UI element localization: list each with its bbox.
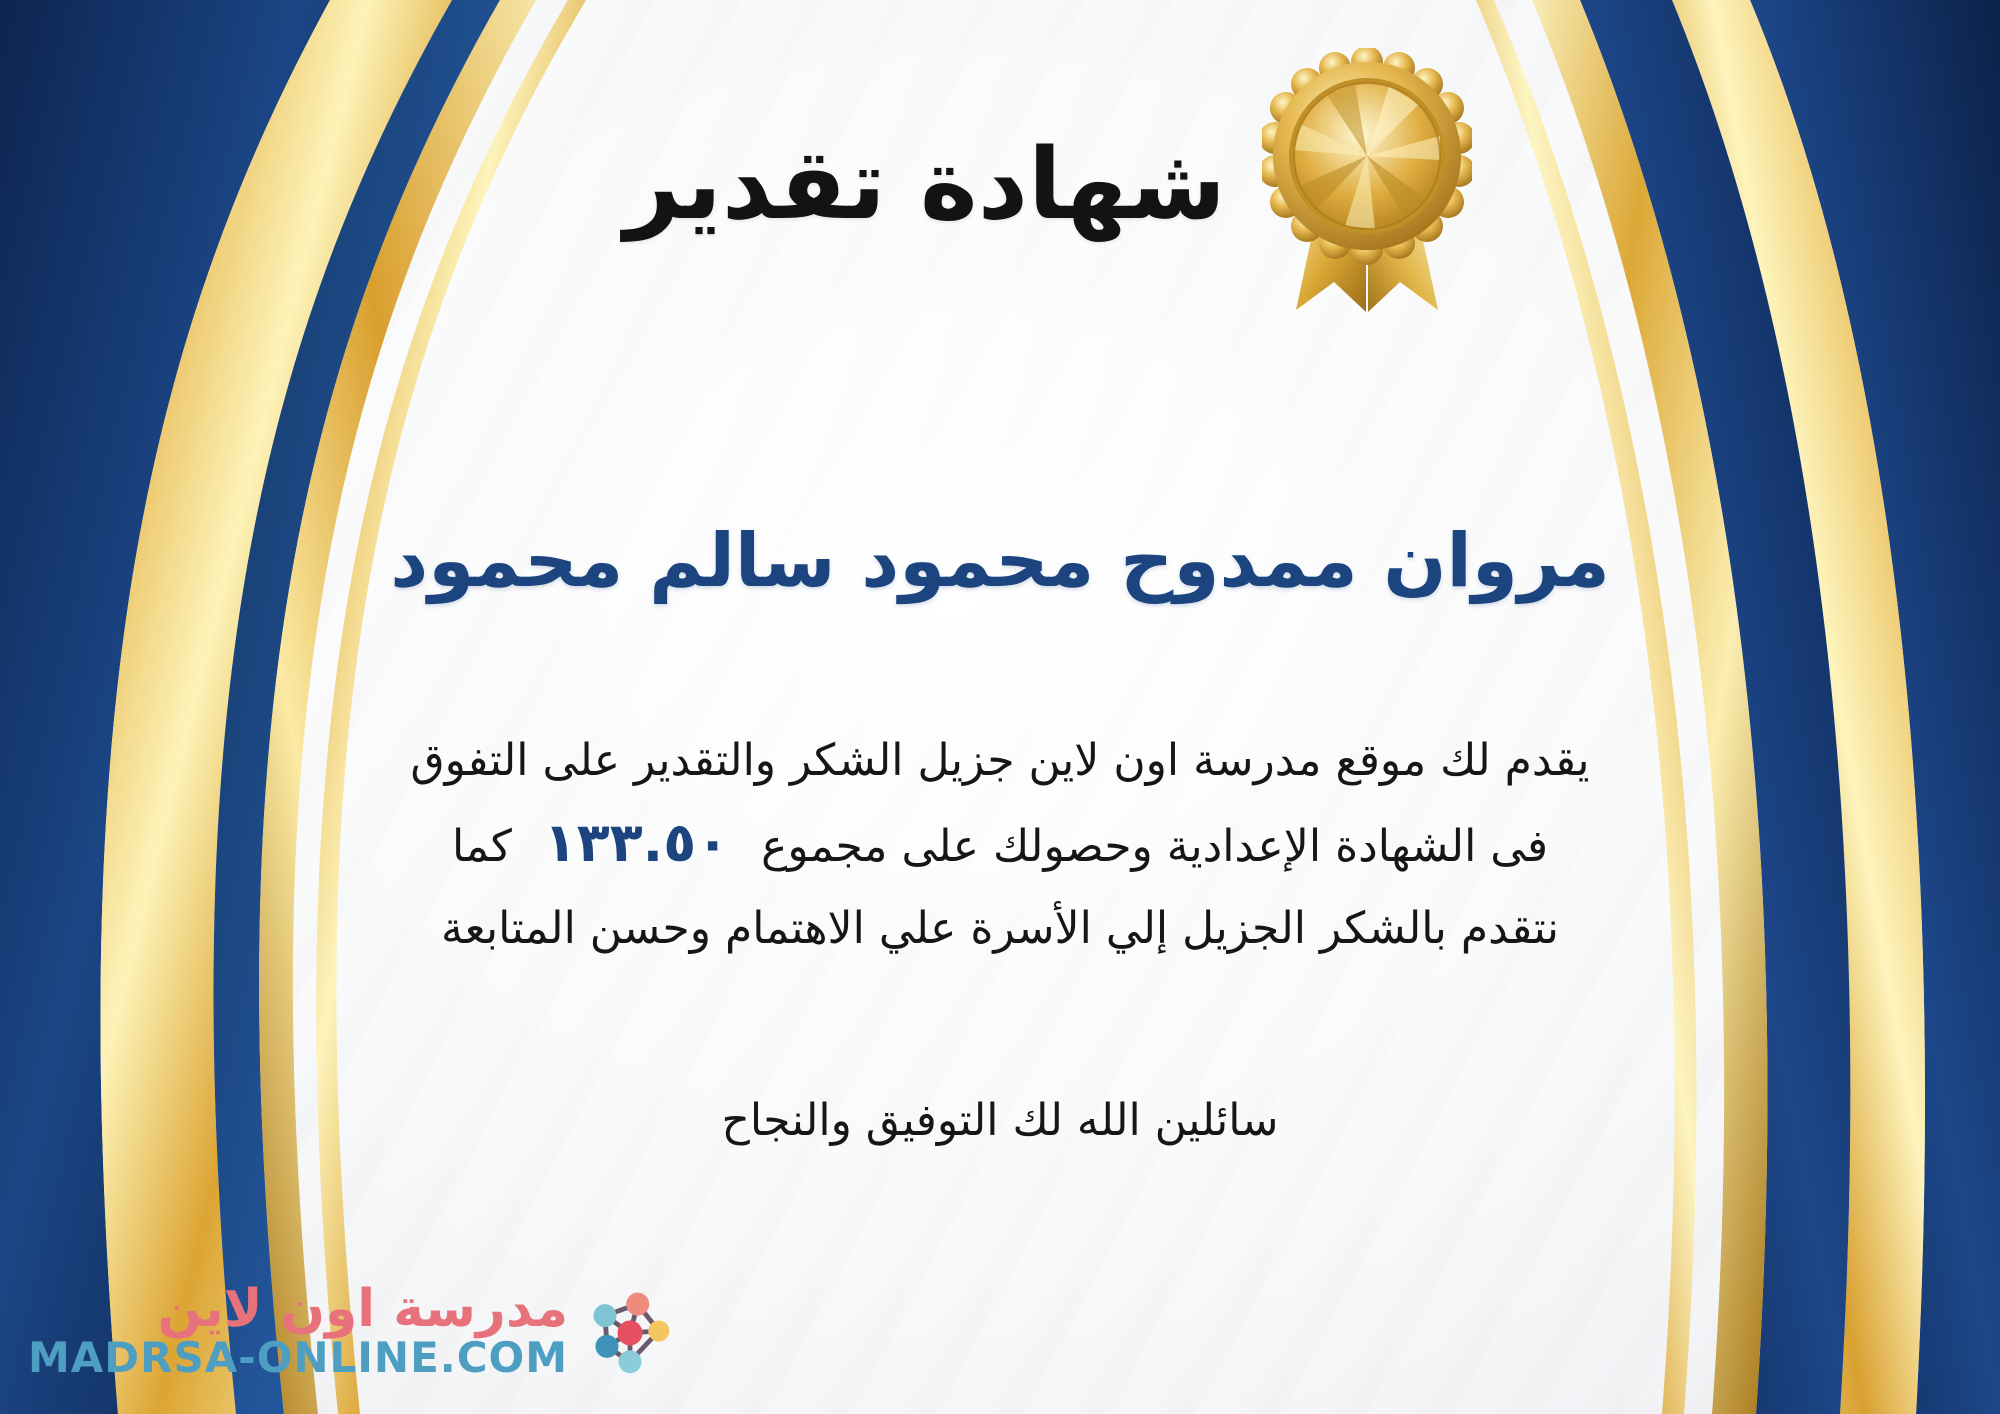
body-line-1: يقدم لك موقع مدرسة اون لاين جزيل الشكر و… <box>300 720 1700 802</box>
network-nodes-icon <box>582 1283 678 1379</box>
brand-arabic-name: مدرسة اون لاين <box>157 1283 568 1336</box>
certificate-content: شهادة تقدير مروان ممدوح محمود سالم محمود… <box>0 0 2000 1414</box>
body-line-2: فى الشهادة الإعدادية وحصولك على مجموع ١٣… <box>300 802 1700 888</box>
body-line-2-prefix: فى الشهادة الإعدادية وحصولك على مجموع <box>761 821 1548 872</box>
closing-line: سائلين الله لك التوفيق والنجاح <box>300 1095 1700 1146</box>
certificate-canvas: شهادة تقدير مروان ممدوح محمود سالم محمود… <box>0 0 2000 1414</box>
brand-text-block: مدرسة اون لاين MADRSA-ONLINE.COM <box>28 1283 568 1380</box>
brand-logo[interactable]: مدرسة اون لاين MADRSA-ONLINE.COM <box>28 1283 678 1380</box>
page-title: شهادة تقدير <box>0 128 2000 242</box>
body-line-3: نتقدم بالشكر الجزيل إلي الأسرة علي الاهت… <box>300 888 1700 970</box>
body-paragraph: يقدم لك موقع مدرسة اون لاين جزيل الشكر و… <box>300 720 1700 970</box>
body-line-2-suffix: كما <box>452 821 512 872</box>
recipient-name: مروان ممدوح محمود سالم محمود <box>0 518 2000 604</box>
score-value: ١٣٣.٥٠ <box>526 811 747 874</box>
brand-website-url: MADRSA-ONLINE.COM <box>28 1336 568 1380</box>
